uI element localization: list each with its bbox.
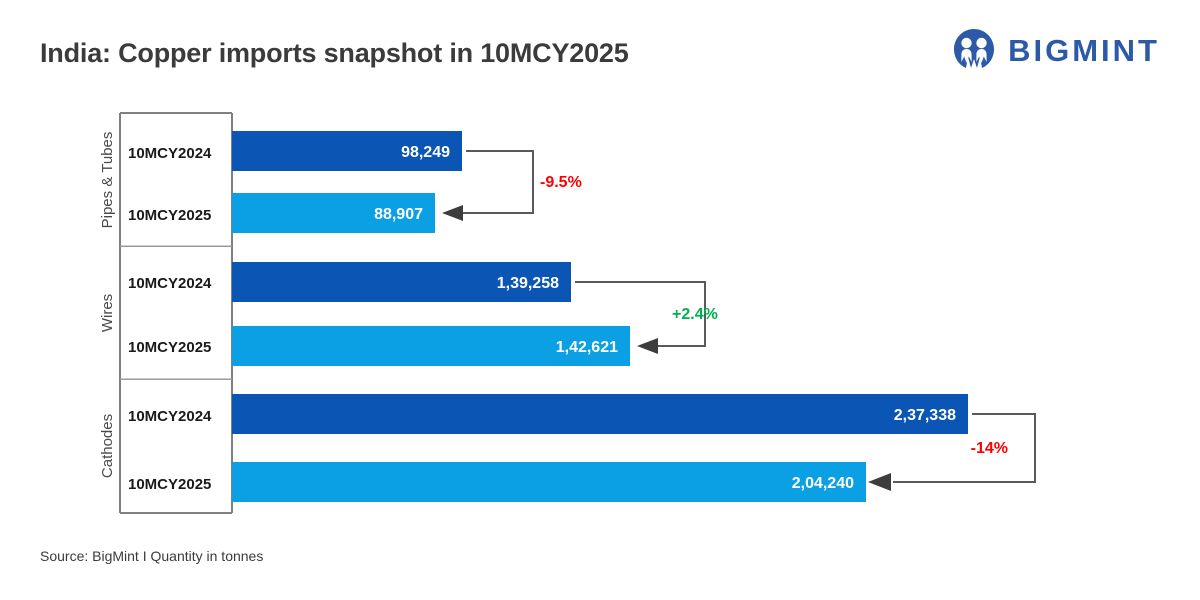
bar-category-label: 10MCY2024 [128, 408, 212, 425]
bar-value-label: 2,04,240 [792, 475, 854, 492]
change-label-cathodes: -14% [971, 440, 1008, 457]
bar-category-label: 10MCY2025 [128, 476, 211, 493]
bar-category-label: 10MCY2024 [128, 145, 212, 162]
source-note: Source: BigMint I Quantity in tonnes [40, 548, 263, 564]
group-axis-label: Cathodes [99, 414, 116, 478]
change-connector [462, 151, 533, 213]
bar-value-label: 1,42,621 [556, 339, 618, 356]
bar-group-wires: Wires 10MCY2024 1,39,258 10MCY2025 1,42,… [99, 262, 718, 366]
bar-category-label: 10MCY2025 [128, 207, 211, 224]
change-label-wires: +2.4% [672, 306, 718, 323]
bar-value-label: 2,37,338 [894, 407, 956, 424]
change-arrow-icon [637, 338, 658, 354]
bar-category-label: 10MCY2024 [128, 275, 212, 292]
group-axis-label: Pipes & Tubes [99, 132, 116, 229]
bar-group-cathodes: Cathodes 10MCY2024 2,37,338 10MCY2025 2,… [99, 394, 1035, 502]
bar-2024-cathodes[interactable] [232, 394, 968, 434]
bar-value-label: 88,907 [374, 206, 423, 223]
bar-group-pipes-and-tubes: Pipes & Tubes 10MCY2024 98,249 10MCY2025… [99, 131, 582, 233]
change-label-pipes-and-tubes: -9.5% [540, 174, 582, 191]
bar-value-label: 1,39,258 [497, 275, 559, 292]
bar-2025-cathodes[interactable] [232, 462, 866, 502]
change-arrow-icon [442, 205, 463, 221]
group-axis-label: Wires [99, 294, 116, 332]
axis-frame [120, 113, 232, 513]
chart-plot-area: Pipes & Tubes 10MCY2024 98,249 10MCY2025… [0, 0, 1200, 600]
bar-category-label: 10MCY2025 [128, 339, 211, 356]
bar-value-label: 98,249 [401, 144, 450, 161]
bar-chart-svg: Pipes & Tubes 10MCY2024 98,249 10MCY2025… [0, 0, 1200, 600]
change-arrow-icon [868, 473, 891, 491]
